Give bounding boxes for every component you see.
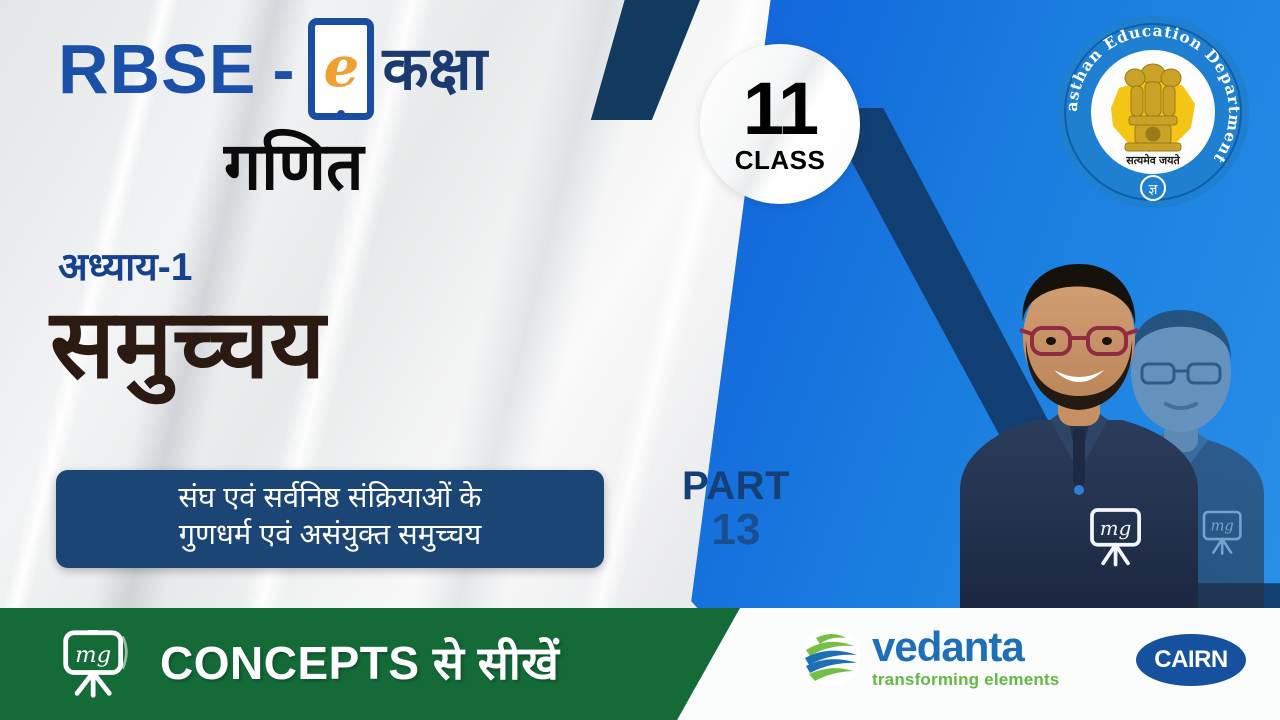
svg-text:mg: mg: [75, 642, 111, 668]
brand-title-row: RBSE - e कक्षा: [58, 18, 487, 120]
footer-concepts-hindi: से सीखें: [433, 637, 560, 689]
vedanta-name: vedanta: [872, 626, 1059, 668]
topic-subtitle-box: संघ एवं सर्वनिष्ठ संक्रियाओं के गुणधर्म …: [56, 470, 604, 568]
part-indicator: PART 13: [666, 466, 806, 553]
sponsor-cairn: CAIRN: [1136, 634, 1246, 686]
class-number: 11: [743, 78, 817, 141]
footer-tagline: CONCEPTS से सीखें: [160, 631, 559, 693]
instructors-photo-group: mg: [930, 238, 1280, 610]
svg-text:mg: mg: [1100, 517, 1132, 540]
class-badge: 11 CLASS: [700, 44, 860, 204]
smartphone-icon: e: [308, 18, 374, 120]
chapter-title: समुच्चय: [50, 297, 325, 393]
vedanta-globe-icon: [800, 626, 862, 688]
cairn-name: CAIRN: [1154, 646, 1228, 674]
footer-concepts-text: CONCEPTS: [160, 637, 420, 689]
vedanta-tagline: transforming elements: [872, 671, 1059, 688]
rajasthan-education-department-emblem: Rajasthan Education Department सत्यमेव ज…: [1053, 12, 1253, 212]
chapter-number: अध्याय-1: [58, 248, 192, 287]
brand-kaksha: कक्षा: [382, 39, 487, 99]
instructor-front-photo: mg: [954, 258, 1204, 610]
svg-text:ज्ञ: ज्ञ: [1149, 182, 1159, 198]
video-thumbnail: mg: [0, 0, 1280, 720]
topic-subtitle-line-2: गुणधर्म एवं असंयुक्त समुच्चय: [70, 517, 590, 554]
svg-text:mg: mg: [1211, 518, 1234, 535]
sponsor-vedanta: vedanta transforming elements: [800, 626, 1059, 688]
brand-dash: -: [272, 36, 294, 102]
emblem-motto: सत्यमेव जयते: [1125, 153, 1180, 167]
topic-subtitle-line-1: संघ एवं सर्वनिष्ठ संक्रियाओं के: [70, 480, 590, 517]
brand-rbse: RBSE: [58, 34, 256, 104]
brand-e-letter: e: [324, 39, 360, 95]
mg-easel-icon: mg: [60, 630, 132, 698]
part-label: PART: [666, 466, 806, 507]
part-number: 13: [666, 507, 806, 553]
subject-title: गणित: [224, 133, 364, 199]
